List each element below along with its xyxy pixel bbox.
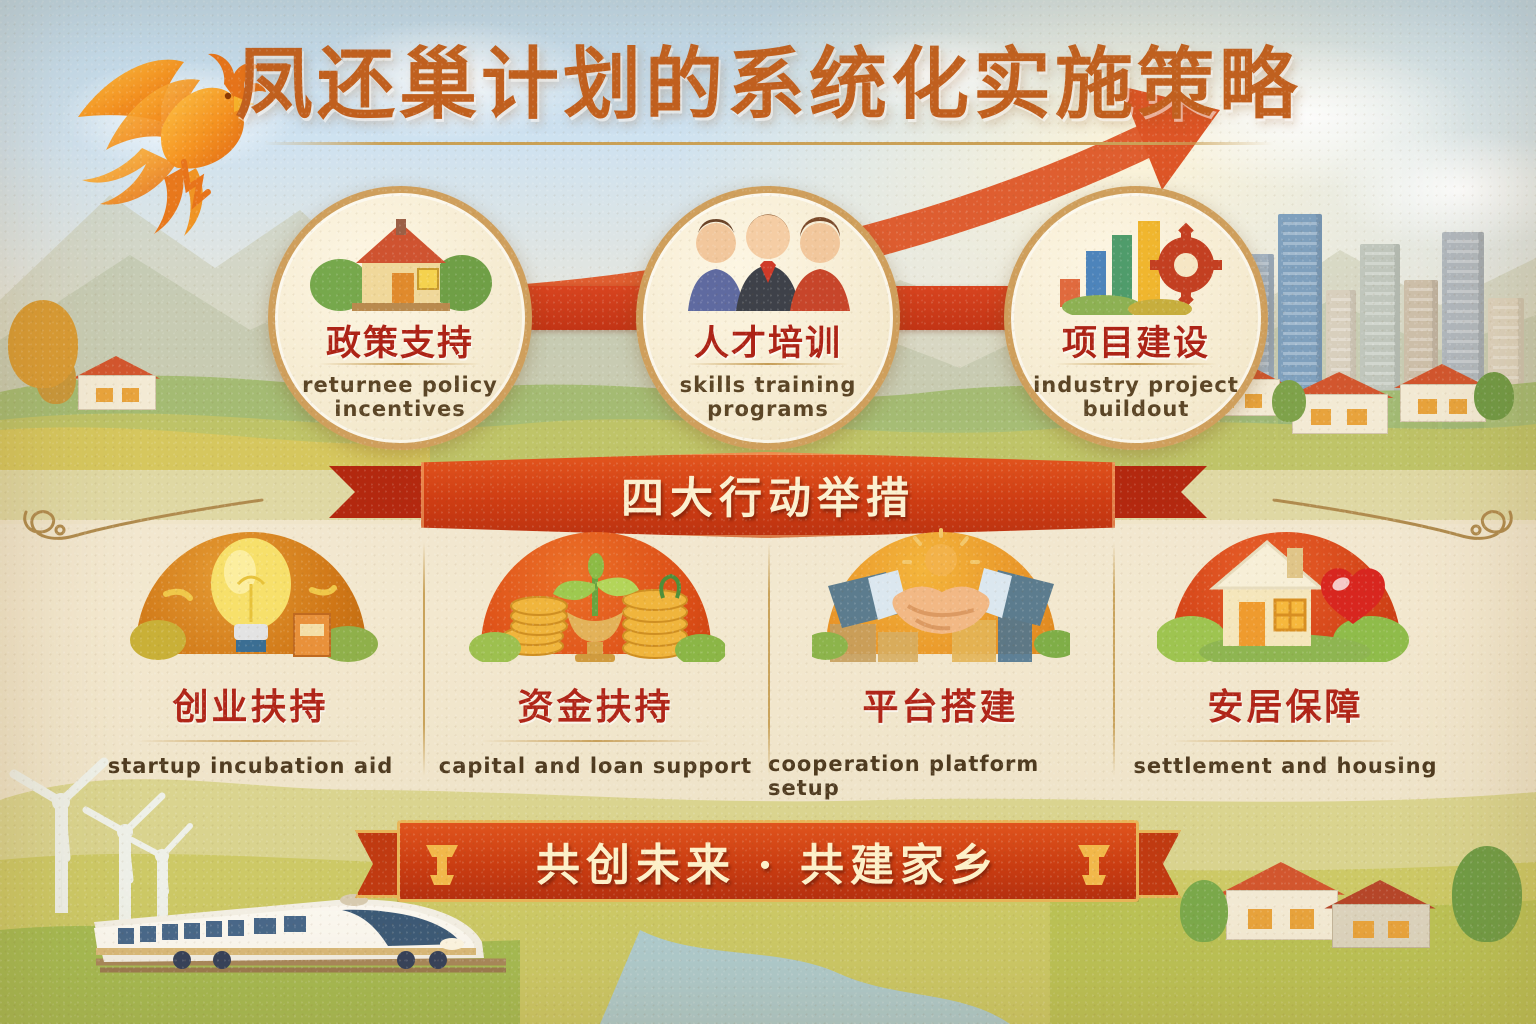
slogan-banner: 共创未来 · 共建家乡 <box>0 820 1536 902</box>
tassel-ornament-right <box>1074 841 1114 887</box>
tassel-ornament-left <box>422 841 462 887</box>
infographic-poster: 凤还巢计划的系统化实施策略 政策支持 returnee <box>0 0 1536 1024</box>
slogan-text: 共创未来 · 共建家乡 <box>536 829 1000 893</box>
